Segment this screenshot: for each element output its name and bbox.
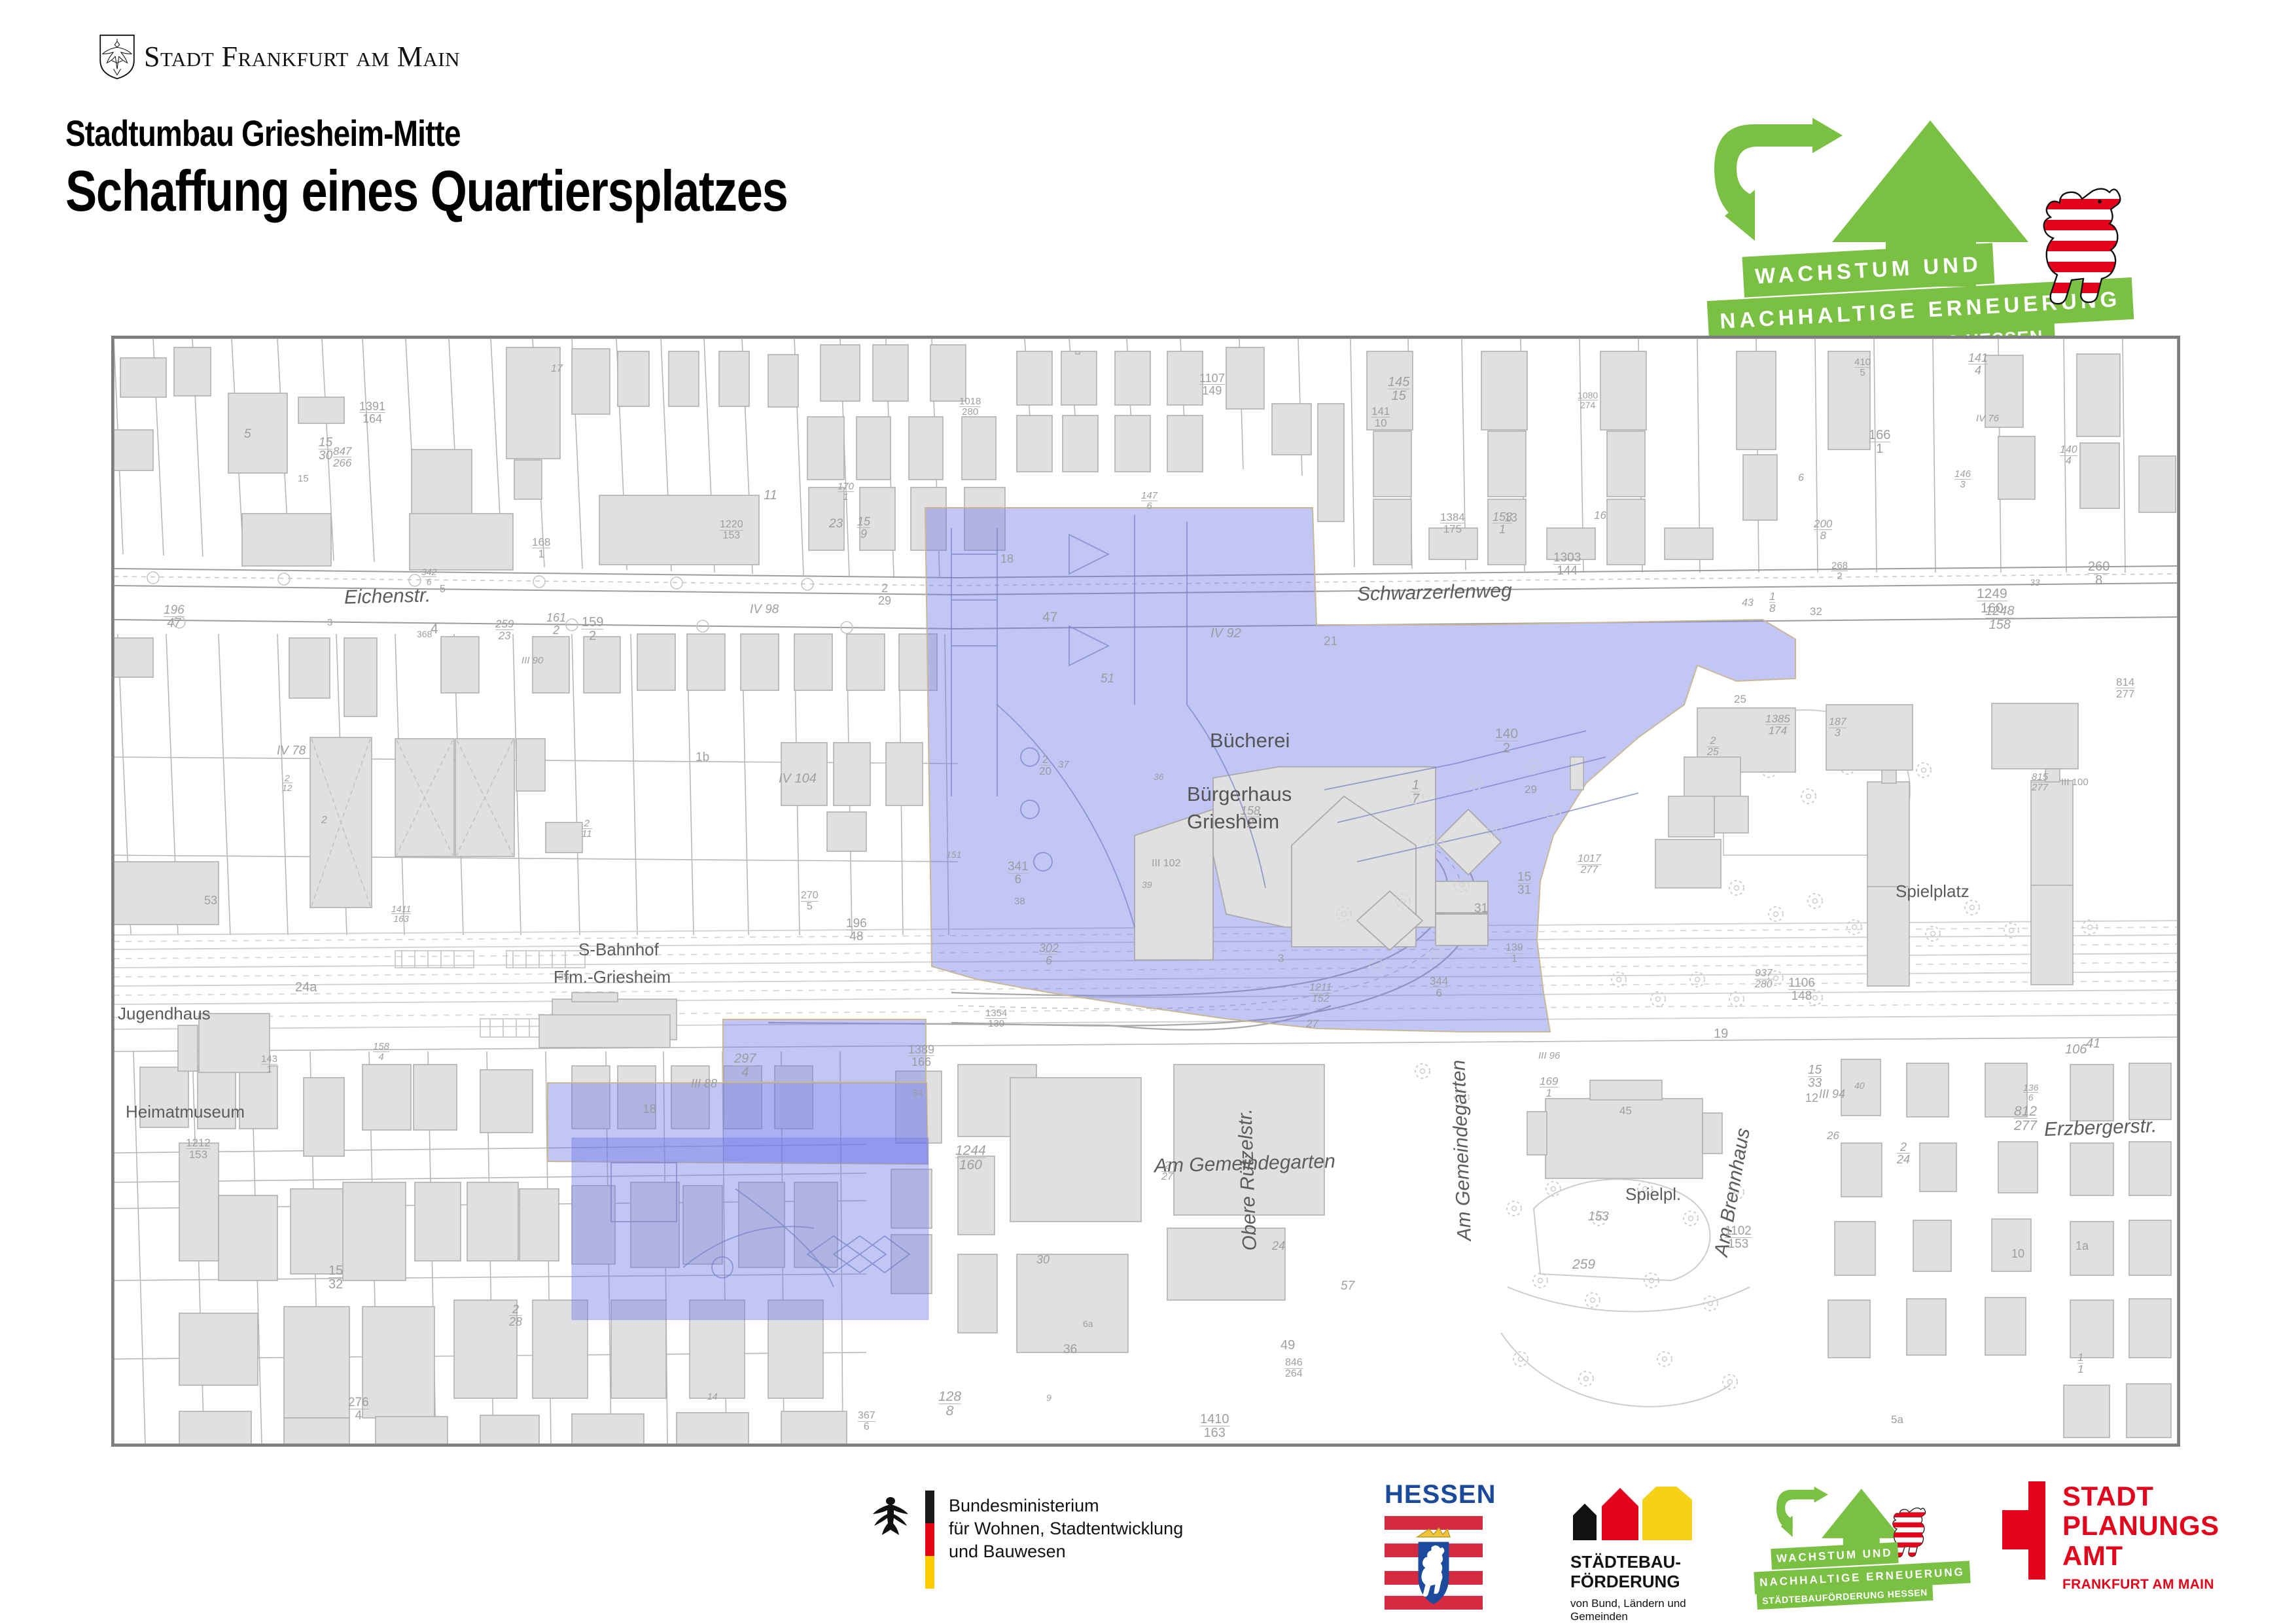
parcel-number: 1391 [1506,943,1523,965]
parcel-number: 1b [696,750,709,765]
parcel-number: 847266 [333,446,351,469]
hessen-label: HESSEN [1385,1480,1483,1509]
parcel-number: 1303144 [1553,552,1581,578]
parcel-number: 1691 [1540,1076,1558,1099]
parcel-number: 34 [912,1087,923,1099]
bmwsb-logo: Bundesministerium für Wohnen, Stadtentwi… [870,1484,1183,1589]
parcel-number: 1107149 [1199,372,1225,397]
parcel-number: 1102153 [1725,1225,1752,1251]
stfo-text: STÄDTEBAU- FÖRDERUNG [1570,1553,1695,1592]
city-logo-text: Stadt Frankfurt am Main [144,41,460,73]
parcel-number: 1106148 [1788,977,1815,1003]
parcel-number: 225 [1707,736,1719,758]
subtitle: Stadtumbau Griesheim-Mitte [65,115,1246,153]
parcel-number: 846264 [1285,1358,1303,1380]
spa-line2: PLANUNGS [2062,1511,2219,1540]
parcel-number: IV 92 [1210,626,1241,641]
cadastral-map[interactable]: Eichenstr. Schwarzerlenweg Erzbergerstr.… [111,336,2180,1447]
parcel-number: 19647 [164,604,185,630]
parcel-number: 49 [1280,1338,1295,1353]
parcel-number: 3 [327,617,332,628]
parcel-number: 36 [1154,771,1164,782]
place-label-ffm-griesheim: Ffm.-Griesheim [554,967,671,987]
parcel-number: 224 [1897,1141,1910,1166]
parcel-number: 1431 [261,1054,277,1075]
parcel-number: 1354139 [985,1008,1007,1029]
bmwsb-line3: und Bauwesen [949,1540,1183,1563]
bmwsb-line2: für Wohnen, Stadtentwicklung [949,1517,1183,1540]
parcel-number: 229 [878,582,891,607]
parcel-number: 159 [857,516,870,540]
parcel-number: 23 [829,517,843,531]
parcel-number: IV 104 [779,771,817,786]
parcel-number: III 96 [1538,1050,1560,1061]
parcel-number: 11 [2077,1352,2083,1375]
stfo-sub2: Gemeinden [1570,1610,1695,1623]
parcel-number: 106 [2065,1042,2087,1057]
parcel-number: 15 [298,473,309,484]
parcel-number: 14515 [1388,376,1409,403]
parcel-number: 26 [1827,1129,1839,1142]
parcel-number: 2608 [2088,560,2110,588]
stadtplanungsamt-logo: STADT PLANUNGS AMT FRANKFURT AM MAIN [2002,1481,2219,1593]
parcel-number: 5 [244,427,251,442]
place-label-buergerhaus: Bürgerhaus [1187,783,1292,806]
parcel-number: 5a [1891,1413,1903,1426]
parcel-number: 1402 [1495,727,1518,756]
parcel-number: 1389166 [908,1044,934,1068]
parcel-number: 1463 [1954,469,1971,490]
parcel-number: 227 [1161,1161,1173,1183]
parcel-number: 259 [1572,1257,1595,1273]
parcel-number: 1701 [838,482,854,503]
parcel-number: 1582 [1241,805,1260,830]
city-logo: Stadt Frankfurt am Main [97,34,516,80]
parcel-number: 3446 [1430,976,1448,999]
parcel-number: 1612 [546,612,566,637]
parcel-number: 368 [417,629,432,639]
parcel-number: 1410163 [1200,1413,1229,1440]
parcel-number: 45 [1619,1104,1632,1118]
parcel-number: 1018280 [959,397,981,417]
parcel-number: 2974 [734,1052,756,1080]
parcel-number: 2682 [1831,561,1848,582]
parcel-number: 814277 [2116,677,2134,700]
parcel-number: 2008 [1814,518,1832,542]
parcel-number: 1476 [1141,491,1157,512]
parcel-number: IV 78 [277,744,306,758]
parcel-number: 220 [1039,754,1051,777]
spa-line3: AMT [2062,1541,2219,1570]
parcel-number: 38 [1014,896,1025,907]
parcel-number: 1681 [532,537,550,560]
parcel-number: 812277 [2014,1104,2037,1133]
parcel-number: 33 [2030,577,2040,588]
parcel-number: 2 [321,815,327,826]
parcel-number: 815277 [2032,772,2048,793]
parcel-number: 1414 [1968,352,1988,377]
parcel-number: 6a [1083,1318,1093,1329]
spa-line1: STADT [2062,1481,2219,1511]
parcel-number: 25 [1734,693,1746,706]
place-label-spielplatz: Spielplatz [1896,881,1969,902]
german-flag-bar-icon [925,1491,934,1589]
parcel-number: 212 [282,773,292,793]
bmwsb-line1: Bundesministerium [949,1494,1183,1517]
stfo-line1: STÄDTEBAU- [1570,1553,1695,1572]
parcel-number: 1366 [2023,1083,2038,1103]
hessen-logo: HESSEN [1385,1480,1483,1612]
street-label-erzbergerstr: Erzbergerstr. [2043,1115,2157,1141]
parcel-number: 3416 [1008,860,1029,887]
parcel-number: 1385174 [1765,713,1790,737]
parcel-number: 57 [1341,1279,1354,1294]
parcel-number: 1212153 [186,1137,211,1161]
parcel-number: 228 [509,1303,522,1328]
parcel-number: 31 [1474,902,1488,916]
parcel-number: 2764 [348,1396,369,1422]
parcel-number: 41 [2086,1036,2100,1051]
program-logo-small: WACHSTUM UND NACHHALTIGE ERNEUERUNG STÄD… [1776,1487,1960,1604]
parcel-number: 21 [1324,635,1337,649]
parcel-number: 4105 [1854,357,1871,378]
parcel-number: 1384175 [1440,512,1465,535]
parcel-number: 1220153 [720,520,743,542]
parcel-number: 19 [1714,1027,1728,1042]
city-logo-wordmark: Stadt Frankfurt am Main [144,43,460,71]
parcel-number: 1531 [1517,871,1531,897]
footer-logos: Bundesministerium für Wohnen, Stadtentwi… [0,1472,2296,1623]
parcel-number: 1661 [1869,429,1890,456]
page-title: Schaffung eines Quartiersplatzes [65,160,1246,222]
place-label-spielpl: Spielpl. [1625,1184,1681,1205]
parcel-number: 1592 [582,616,603,643]
parcel-number: 151 [946,849,961,860]
parcel-number: 1017277 [1578,854,1601,876]
hessen-flag-icon [1385,1513,1483,1612]
parcel-number: 1531 [1492,511,1512,536]
street-label-eichenstr: Eichenstr. [344,584,431,609]
parcel-number: 40 [1854,1080,1865,1091]
parcel-number: 14110 [1371,406,1390,429]
parcel-number: 16 [1594,509,1606,522]
parcel-number: IV 76 [1976,413,1999,424]
parcel-number: 17 [551,363,563,375]
parcel-number: 1873 [1829,717,1846,739]
parcel-number: III 94 [1819,1087,1845,1101]
parcel-number: 1391164 [359,400,385,425]
parcel-number: 3426 [421,567,436,587]
parcel-number: 211 [582,819,592,839]
street-label-schwarzerlenweg: Schwarzerlenweg [1357,580,1513,606]
stfo-subtext: von Bund, Ländern und Gemeinden [1570,1597,1695,1624]
parcel-number: III 88 [691,1077,717,1091]
parcel-number: 53 [204,894,217,908]
parcel-number: 1080274 [1578,391,1598,410]
parcel-number: 1288 [938,1390,961,1419]
parcel-number: III 102 [1152,858,1180,870]
place-label-s-bahnhof: S-Bahnhof [578,940,659,960]
title-block: Stadtumbau Griesheim-Mitte Schaffung ein… [65,115,1505,222]
stfo-line2: FÖRDERUNG [1570,1572,1695,1592]
parcel-number: 19648 [846,917,867,944]
parcel-number: 14 [707,1391,718,1402]
parcel-number: 35 [558,972,569,983]
parcel-number: III 100 [2061,777,2089,788]
bundesadler-icon [870,1493,911,1536]
place-label-buecherei: Bücherei [1210,729,1290,752]
parcel-number: 25923 [495,618,514,642]
parcel-number: 9 [1046,1392,1051,1403]
parcel-number: 1211152 [1309,983,1332,1005]
stfo-sub1: von Bund, Ländern und [1570,1597,1695,1610]
parcel-number: 1244160 [955,1144,986,1173]
three-houses-icon [1570,1487,1695,1540]
parcel-number: 2705 [801,891,819,913]
spa-sub: FRANKFURT AM MAIN [2062,1577,2219,1593]
parcel-number: 1533 [1808,1064,1822,1090]
parcel-number: 11 [764,488,777,503]
parcel-number: 1530 [319,436,332,463]
parcel-number: 30 [1036,1253,1050,1267]
parcel-number: 51 [1101,672,1114,686]
parcel-number: 18 [1000,552,1014,566]
parcel-number: 10 [2011,1247,2024,1261]
parcel-number: 29 [1525,783,1537,796]
parcel-number: 43 [1742,597,1754,609]
parcel-number: 37 [1058,759,1069,770]
parcel-number: 937280 [1755,968,1773,991]
parcel-number: 18 [643,1103,656,1117]
parcel-number: 24a [295,980,317,995]
parcel-number: 27 [1306,1017,1318,1031]
parcel-number: 5 [440,584,446,595]
parcel-number: 153 [1588,1210,1609,1224]
parcel-number: 1404 [2060,445,2077,467]
stadtplanungsamt-mark-icon [2002,1481,2045,1580]
parcel-number: IV 98 [750,603,779,617]
parcel-number: 1249160 [1977,587,2007,616]
parcel-number: 17 [1412,779,1419,806]
parcel-number: 1a [2075,1239,2089,1253]
parcel-number: 12 [1805,1091,1818,1105]
parcel-number: 1411163 [391,904,411,924]
parcel-number: 36 [1063,1343,1077,1357]
place-label-jugendhaus: Jugendhaus [118,1004,211,1024]
parcel-number: 3676 [858,1411,875,1433]
place-label-heimatmuseum: Heimatmuseum [126,1102,245,1122]
parcel-number: 3 [1278,952,1284,965]
staedtebaufoerderung-logo: STÄDTEBAU- FÖRDERUNG von Bund, Ländern u… [1570,1487,1695,1624]
place-label-griesheim: Griesheim [1187,810,1279,834]
parcel-number: 1584 [373,1042,389,1063]
parcel-number: 47 [1042,610,1057,626]
parcel-number: 39 [1142,879,1152,890]
bmwsb-text: Bundesministerium für Wohnen, Stadtentwi… [949,1484,1183,1563]
parcel-number: 4 [431,622,438,637]
parcel-number: 32 [1810,605,1822,618]
parcel-number: 6 [1798,472,1804,484]
parcel-number: 24 [1272,1239,1285,1253]
parcel-number: 18 [1769,591,1775,614]
hessen-lion-icon [2035,182,2133,319]
parcel-number: 1532 [328,1264,343,1292]
parcel-number: 3026 [1039,942,1059,967]
parcel-number: III 90 [521,655,543,666]
frankfurt-eagle-crest-icon [97,34,137,80]
